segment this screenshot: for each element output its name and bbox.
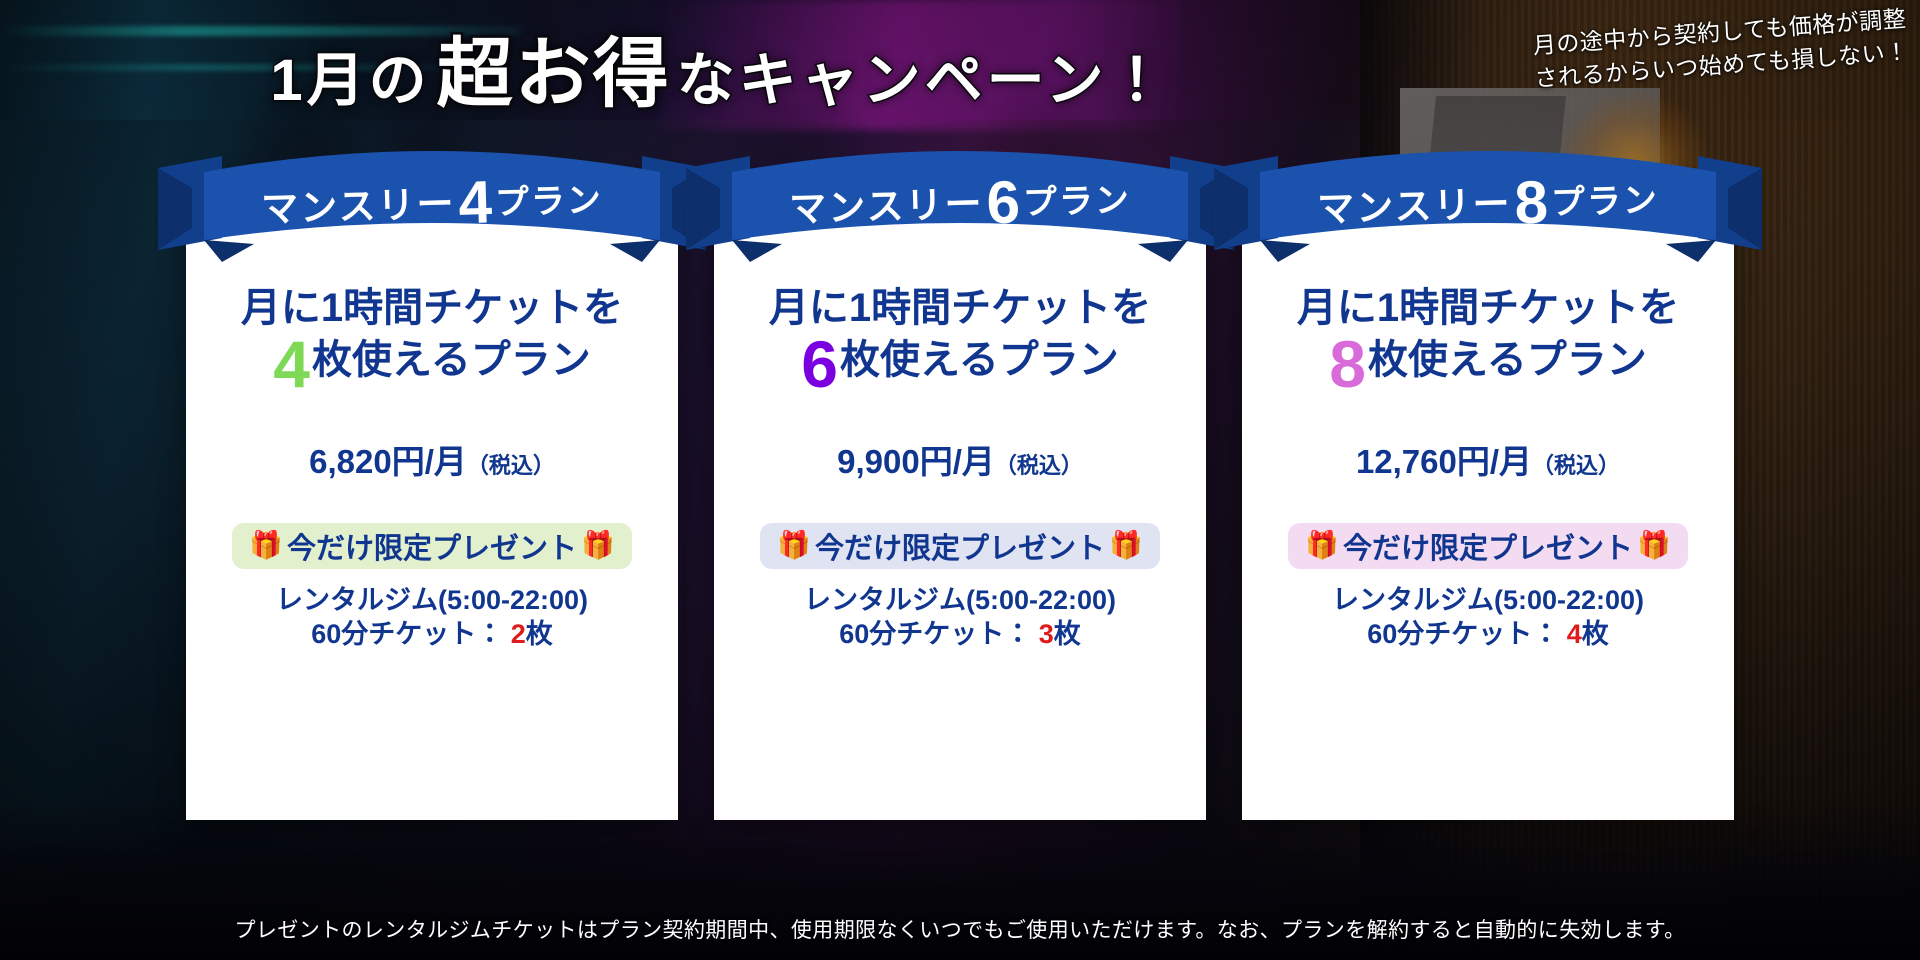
plan-price-amount: 12,760円/月	[1356, 443, 1532, 480]
plan-big-number: 6	[801, 338, 838, 391]
gift-detail-count: 4	[1567, 619, 1582, 649]
gift-detail-prefix: 60分チケット：	[1367, 619, 1559, 649]
gift-detail-suffix: 枚	[1054, 619, 1081, 649]
plan-price-amount: 9,900円/月	[837, 443, 995, 480]
plan-card[interactable]: マンスリー4プラン 月に1時間チケットを 4枚使えるプラン 6,820円/月（税…	[186, 190, 678, 820]
gift-detail-line-2: 60分チケット： 2枚	[186, 617, 678, 652]
gift-detail-line-1: レンタルジム(5:00-22:00)	[186, 583, 678, 618]
plan-headline-line-2: 枚使えるプラン	[312, 338, 591, 382]
gift-badge-label: 今だけ限定プレゼント	[287, 525, 577, 567]
plan-card-list: マンスリー4プラン 月に1時間チケットを 4枚使えるプラン 6,820円/月（税…	[0, 190, 1920, 920]
gift-icon-right: 🎁	[581, 532, 615, 559]
plan-headline-line-2: 枚使えるプラン	[1368, 338, 1647, 382]
gift-icon-right: 🎁	[1109, 532, 1143, 559]
gift-detail-line-1: レンタルジム(5:00-22:00)	[1242, 583, 1734, 618]
gift-detail-prefix: 60分チケット：	[311, 619, 503, 649]
gift-badge-label: 今だけ限定プレゼント	[1343, 525, 1633, 567]
gift-detail: レンタルジム(5:00-22:00) 60分チケット： 3枚	[714, 583, 1206, 652]
gift-detail-count: 2	[511, 619, 526, 649]
gift-detail-suffix: 枚	[1582, 619, 1609, 649]
title-part-emphasis: 超お得	[437, 12, 671, 122]
plan-headline-line-2-row: 8枚使えるプラン	[1242, 334, 1734, 387]
plan-price-tax-note: （税込）	[1532, 453, 1620, 478]
gift-detail-line-2: 60分チケット： 4枚	[1242, 617, 1734, 652]
plan-headline-line-1: 月に1時間チケットを	[186, 286, 678, 330]
plan-headline-line-1: 月に1時間チケットを	[714, 286, 1206, 330]
plan-headline-line-2-row: 6枚使えるプラン	[714, 334, 1206, 387]
plan-card[interactable]: マンスリー8プラン 月に1時間チケットを 8枚使えるプラン 12,760円/月（…	[1242, 190, 1734, 820]
plan-headline-line-1: 月に1時間チケットを	[1242, 286, 1734, 330]
plan-price: 6,820円/月（税込）	[186, 435, 678, 483]
gift-badge: 🎁今だけ限定プレゼント🎁	[1288, 523, 1688, 569]
plan-big-number: 4	[273, 338, 310, 391]
plan-headline-line-2-row: 4枚使えるプラン	[186, 334, 678, 387]
gift-detail: レンタルジム(5:00-22:00) 60分チケット： 4枚	[1242, 583, 1734, 652]
page-title: 1月の超お得なキャンペーン！	[0, 12, 1440, 122]
gift-detail-prefix: 60分チケット：	[839, 619, 1031, 649]
gift-badge-label: 今だけ限定プレゼント	[815, 525, 1105, 567]
plan-price: 12,760円/月（税込）	[1242, 435, 1734, 483]
plan-card[interactable]: マンスリー6プラン 月に1時間チケットを 6枚使えるプラン 9,900円/月（税…	[714, 190, 1206, 820]
gift-detail: レンタルジム(5:00-22:00) 60分チケット： 2枚	[186, 583, 678, 652]
gift-detail-count: 3	[1039, 619, 1054, 649]
gift-badge: 🎁今だけ限定プレゼント🎁	[760, 523, 1160, 569]
gift-badge: 🎁今だけ限定プレゼント🎁	[232, 523, 632, 569]
gift-icon-left: 🎁	[777, 532, 811, 559]
title-part-campaign: なキャンペーン！	[677, 33, 1170, 117]
gift-icon-left: 🎁	[249, 532, 283, 559]
plan-price: 9,900円/月（税込）	[714, 435, 1206, 483]
plan-headline-line-2: 枚使えるプラン	[840, 338, 1119, 382]
plan-price-tax-note: （税込）	[467, 453, 555, 478]
footer-disclaimer: プレゼントのレンタルジムチケットはプラン契約期間中、使用期限なくいつでもご使用い…	[0, 914, 1920, 944]
gift-icon-right: 🎁	[1637, 532, 1671, 559]
gift-icon-left: 🎁	[1305, 532, 1339, 559]
plan-price-amount: 6,820円/月	[309, 443, 467, 480]
gift-detail-line-1: レンタルジム(5:00-22:00)	[714, 583, 1206, 618]
plan-price-tax-note: （税込）	[995, 453, 1083, 478]
gift-detail-suffix: 枚	[526, 619, 553, 649]
gift-detail-line-2: 60分チケット： 3枚	[714, 617, 1206, 652]
title-part-month: 1月の	[270, 33, 430, 117]
plan-big-number: 8	[1329, 338, 1366, 391]
